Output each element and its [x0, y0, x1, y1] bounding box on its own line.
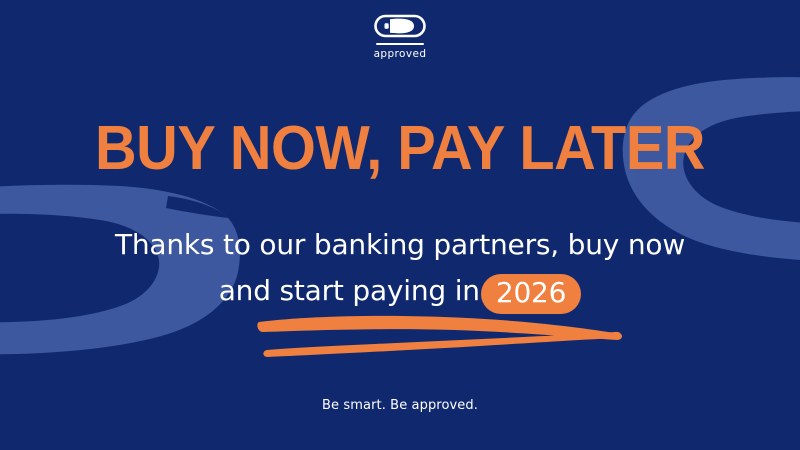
subheading-line-2-prefix: and start paying in: [219, 274, 480, 307]
logo-wordmark: approved: [0, 48, 800, 60]
brand-logo: approved: [0, 14, 800, 60]
highlight-year-badge: 2026: [481, 274, 581, 314]
headline: BUY NOW, PAY LATER: [28, 118, 772, 180]
logo-divider-rule: [376, 43, 424, 45]
hand-drawn-squiggle-underline: [255, 310, 625, 358]
promo-poster: approved BUY NOW, PAY LATER Thanks to ou…: [0, 0, 800, 450]
subheading-line-2: and start paying in2026: [0, 268, 800, 314]
subheading: Thanks to our banking partners, buy now …: [0, 222, 800, 314]
tagline: Be smart. Be approved.: [0, 398, 800, 413]
car-top-view-icon: [374, 14, 426, 38]
subheading-line-1: Thanks to our banking partners, buy now: [0, 222, 800, 268]
